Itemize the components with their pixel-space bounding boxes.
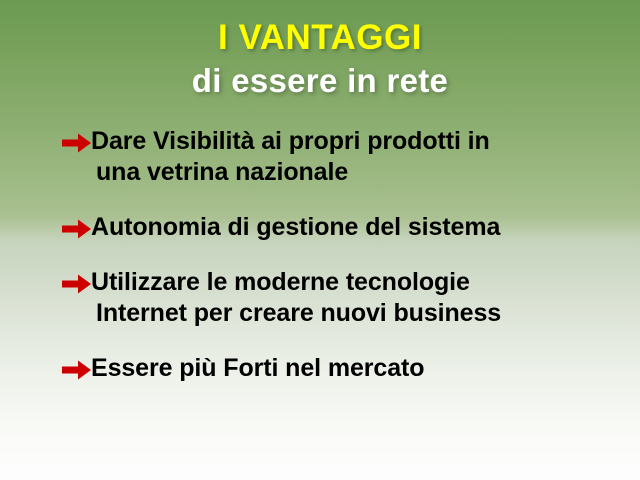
right-arrow-icon [62,359,92,381]
bullet-item: Essere più Forti nel mercato [62,353,622,384]
bullet-item: Autonomia di gestione del sistema [62,212,622,243]
title-line-primary: I VANTAGGI [0,18,640,58]
slide-title: I VANTAGGI di essere in rete [0,18,640,101]
title-line-secondary: di essere in rete [0,61,640,101]
bullet-list: Dare Visibilità ai propri prodotti in un… [62,126,622,384]
right-arrow-icon [62,132,92,154]
bullet-text: Autonomia di gestione del sistema [96,212,622,243]
presentation-slide: I VANTAGGI di essere in rete Dare Visibi… [0,0,640,480]
bullet-text: Essere più Forti nel mercato [96,353,622,384]
right-arrow-icon [62,218,92,240]
right-arrow-icon [62,273,92,295]
bullet-item: Dare Visibilità ai propri prodotti in un… [62,126,622,188]
bullet-item: Utilizzare le moderne tecnologie Interne… [62,267,622,329]
bullet-text: Utilizzare le moderne tecnologie Interne… [96,267,622,329]
bullet-text: Dare Visibilità ai propri prodotti in un… [96,126,622,188]
